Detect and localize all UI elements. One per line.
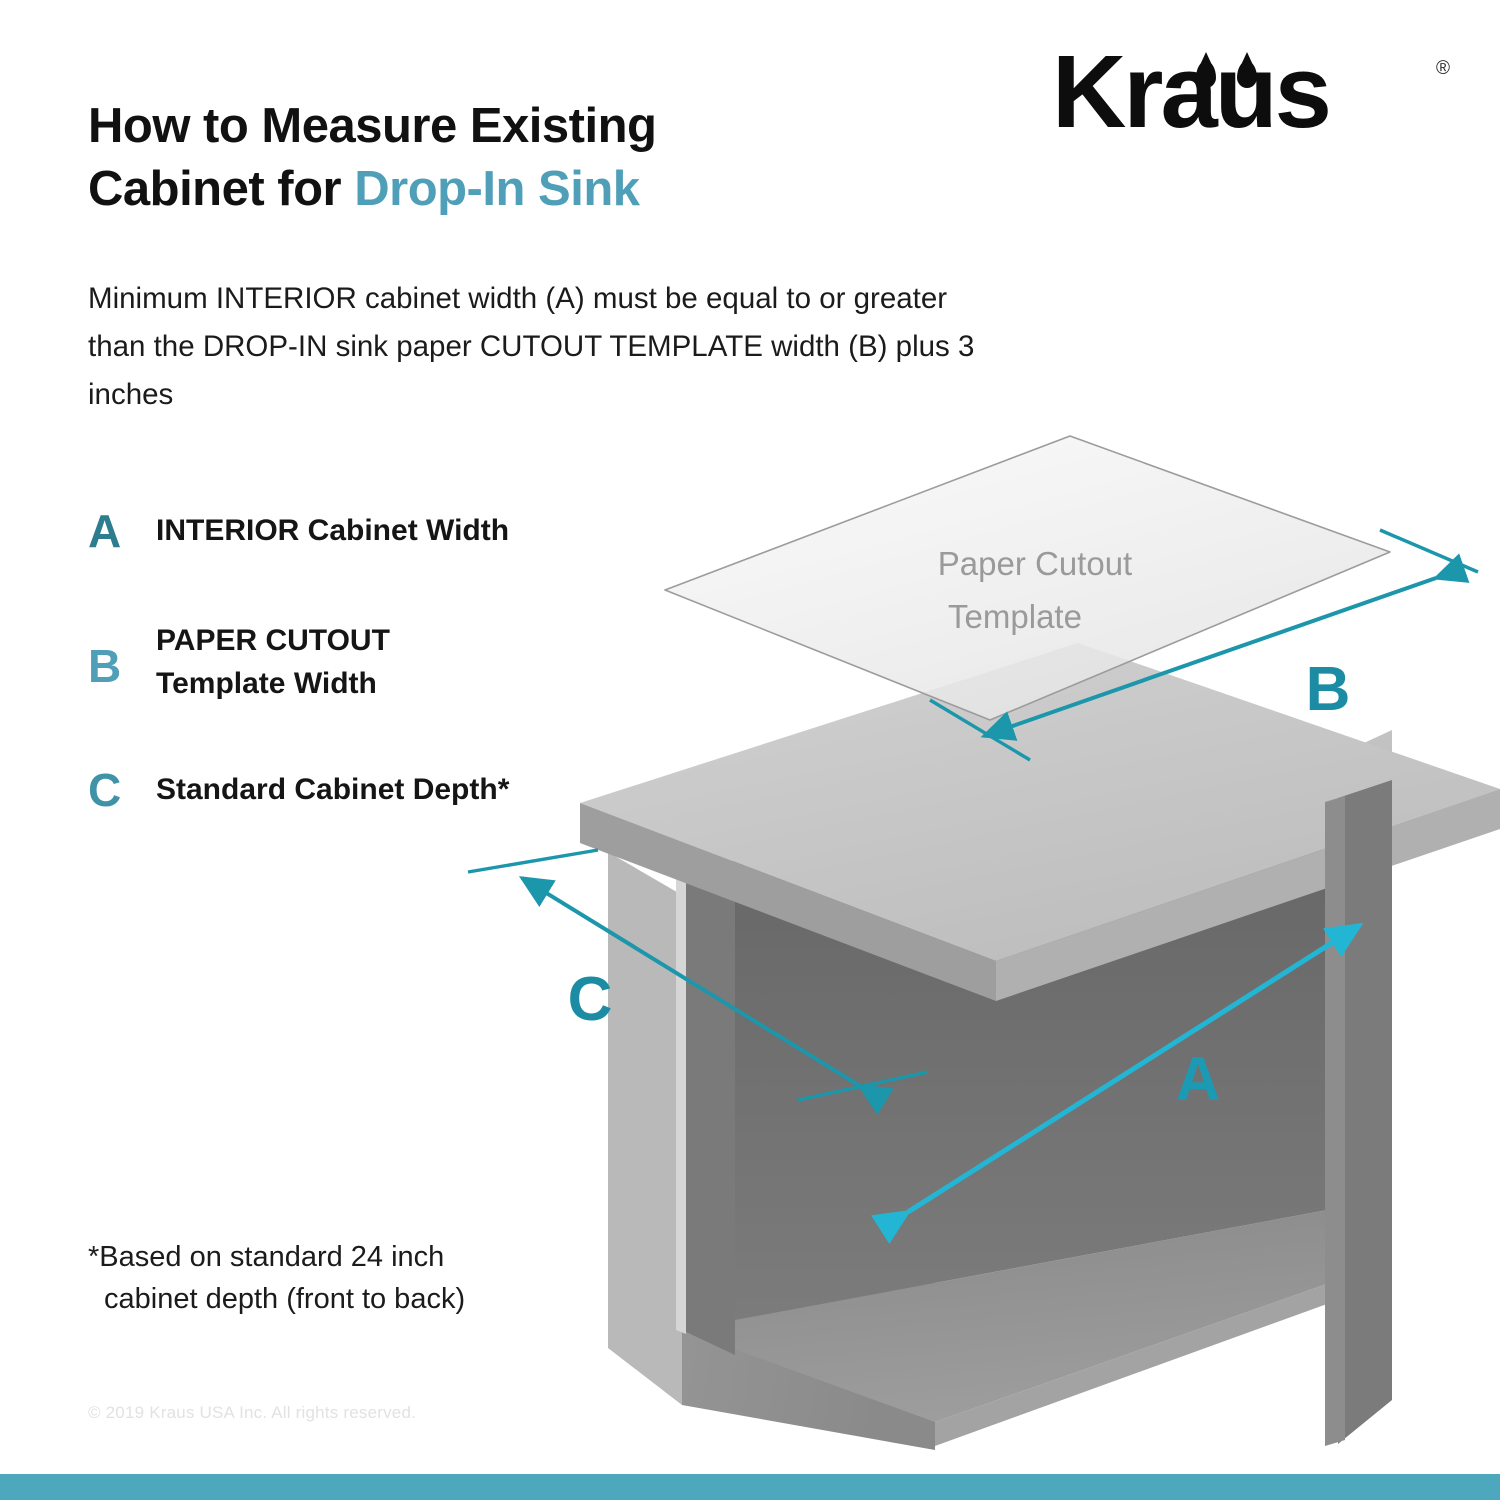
dimension-c-ext-top [468, 850, 598, 872]
bottom-accent-bar [0, 1474, 1500, 1500]
paper-cutout-template: Paper Cutout Template [665, 436, 1390, 720]
legend-letter-b: B [88, 618, 156, 689]
template-label-line-1: Paper Cutout [938, 545, 1132, 582]
cabinet-right-side [1325, 780, 1392, 1446]
water-drop-icon [1237, 61, 1257, 88]
kraus-logo: Kraus ® [1052, 40, 1452, 170]
copyright-text: © 2019 Kraus USA Inc. All rights reserve… [88, 1403, 416, 1423]
title-line-2-accent: Drop-In Sink [354, 162, 639, 216]
legend-letter-c: C [88, 767, 156, 813]
title-line-1: How to Measure Existing [88, 95, 908, 158]
page-title: How to Measure Existing Cabinet for Drop… [88, 95, 908, 220]
footnote-line-1: *Based on standard 24 inch [88, 1241, 444, 1273]
cabinet-right-outer [1338, 780, 1392, 1444]
legend-letter-a: A [88, 508, 156, 554]
water-drop-icon [1196, 61, 1216, 88]
infographic-page: How to Measure Existing Cabinet for Drop… [0, 0, 1500, 1500]
dimension-marker-a: A [1176, 1045, 1221, 1114]
registered-trademark-icon: ® [1436, 58, 1450, 80]
cabinet-illustration: Paper Cutout Template B A [430, 400, 1500, 1460]
cabinet-right-inner-edge [1325, 796, 1345, 1446]
cabinet-front-edge-highlight [676, 870, 686, 1334]
cabinet-left-panel-edge [608, 852, 682, 1405]
legend-label-b-line1: PAPER CUTOUT [156, 618, 390, 661]
cabinet-left-interior-wall [682, 870, 735, 1355]
title-line-2: Cabinet for Drop-In Sink [88, 158, 908, 221]
template-label-line-2: Template [948, 598, 1082, 635]
legend-label-b-line2: Template Width [156, 661, 390, 704]
dimension-marker-b: B [1306, 655, 1351, 724]
intro-paragraph: Minimum INTERIOR cabinet width (A) must … [88, 275, 988, 418]
dimension-marker-c: C [568, 965, 613, 1034]
logo-wordmark: Kraus [1052, 40, 1329, 143]
title-line-2-plain: Cabinet for [88, 162, 354, 216]
dimension-b-ext-top [1380, 530, 1478, 572]
